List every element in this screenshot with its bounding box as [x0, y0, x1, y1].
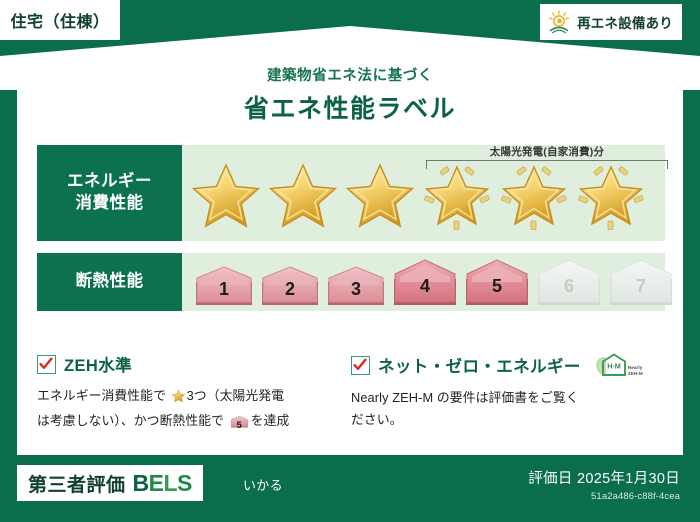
note-zeh-text-4: を達成 [251, 413, 290, 428]
bels-wordmark: BELS [133, 470, 192, 497]
note-zeh-title: ZEH水準 [64, 352, 132, 376]
insulation-badge-2-number: 2 [258, 263, 322, 307]
note-zeh-header: ZEH水準 [37, 352, 337, 376]
note-nze-body: Nearly ZEH-M の要件は評価書をご覧く ださい。 [351, 387, 651, 431]
zeh-m-caption-line1: Nearly [628, 365, 643, 370]
row-label-insulation-line1: 断熱性能 [76, 271, 144, 293]
note-zeh-body: エネルギー消費性能で 3つ（太陽光発電 は考慮しない）、かつ断熱性能で 5 を達… [37, 385, 337, 436]
rating-rows: エネルギー 消費性能 [37, 145, 665, 323]
note-zeh-text-3: は考慮しない）、かつ断熱性能で [37, 413, 224, 428]
note-zeh-text-2: 3つ（太陽光発電 [187, 388, 285, 403]
checkbox-net-zero-energy [351, 356, 370, 375]
star-5-solar [496, 155, 572, 231]
bels-letter-l: L [163, 470, 177, 496]
bels-letter-s: S [177, 470, 192, 496]
title-main: 省エネ性能ラベル [0, 89, 700, 125]
check-icon [39, 357, 53, 371]
row-body-energy: 太陽光発電(自家消費)分 [182, 145, 665, 241]
row-label-insulation: 断熱性能 [37, 253, 182, 311]
solar-sun-icon [546, 9, 572, 35]
bels-letter-e: E [149, 470, 164, 496]
footer: 第三者評価 BELS いかる 評価日 2025年1月30日 51a2a486-c… [0, 455, 700, 522]
check-icon [353, 358, 367, 372]
evaluation-date: 評価日 2025年1月30日 [528, 467, 680, 488]
building-type-tag: 住宅（住棟） [0, 0, 120, 40]
row-label-energy: エネルギー 消費性能 [37, 145, 182, 241]
energy-performance-label: 住宅（住棟） 再エネ設備あり 建築物省エネ法に基づく 省エネ性能ラベル [0, 0, 700, 522]
note-zeh-standard: ZEH水準 エネルギー消費性能で 3つ（太陽光発電 は考慮しない）、かつ断熱性能… [37, 352, 351, 436]
note-nze-text-line2: ださい。 [351, 412, 403, 427]
star-4-solar [419, 155, 495, 231]
bels-certification-box: 第三者評価 BELS [17, 465, 203, 501]
note-nze-title: ネット・ゼロ・エネルギー [378, 353, 581, 377]
bels-letter-b: B [133, 470, 149, 496]
row-label-energy-line1: エネルギー [67, 171, 152, 193]
insulation-badge-6: 6 [534, 257, 604, 307]
note-nze-header: ネット・ゼロ・エネルギー H·M Nearly ZEH-M [351, 352, 651, 378]
insulation-badge-5: 5 [462, 257, 532, 307]
insulation-badge-3: 3 [324, 263, 388, 307]
insulation-badge-6-number: 6 [534, 257, 604, 307]
zeh-m-caption-line2: ZEH-M [628, 371, 643, 376]
insulation-badge-7: 7 [606, 257, 676, 307]
evaluation-info: 評価日 2025年1月30日 51a2a486-c88f-4cea [528, 467, 680, 502]
checkbox-zeh-standard [37, 355, 56, 374]
renewable-energy-badge: 再エネ設備あり [540, 4, 682, 40]
star-1 [188, 155, 264, 231]
insulation-badge-7-number: 7 [606, 257, 676, 307]
star-2 [265, 155, 341, 231]
title-subtitle: 建築物省エネ法に基づく [0, 64, 700, 85]
evaluation-date-label: 評価日 [528, 471, 572, 487]
row-label-energy-line2: 消費性能 [76, 193, 144, 215]
evaluation-id: 51a2a486-c88f-4cea [528, 491, 680, 502]
title-block: 建築物省エネ法に基づく 省エネ性能ラベル [0, 64, 700, 125]
renewable-badge-label: 再エネ設備あり [577, 12, 673, 32]
svg-text:H·M: H·M [607, 362, 621, 371]
star-6-solar [573, 155, 649, 231]
insulation-badge-4: 4 [390, 257, 460, 307]
notes-section: ZEH水準 エネルギー消費性能で 3つ（太陽光発電 は考慮しない）、かつ断熱性能… [37, 352, 665, 436]
zeh-m-logo-caption: Nearly ZEH-M [628, 365, 643, 378]
row-energy-consumption: エネルギー 消費性能 [37, 145, 665, 241]
evaluation-date-value: 2025年1月30日 [577, 471, 680, 487]
note-nze-text-line1: Nearly ZEH-M の要件は評価書をご覧く [351, 390, 579, 405]
inline-star-icon [171, 388, 186, 410]
star-3 [342, 155, 418, 231]
star-rating [188, 155, 649, 231]
inline-house-number: 5 [230, 414, 249, 436]
insulation-badge-4-number: 4 [390, 257, 460, 307]
note-zeh-text-1: エネルギー消費性能で [37, 388, 166, 403]
inline-house-badge: 5 [230, 414, 249, 436]
row-body-insulation: 1 2 [182, 253, 676, 311]
insulation-badge-1: 1 [192, 263, 256, 307]
insulation-badge-3-number: 3 [324, 263, 388, 307]
note-net-zero-energy: ネット・ゼロ・エネルギー H·M Nearly ZEH-M Nearly ZEH… [351, 352, 665, 436]
third-party-eval-label: 第三者評価 [28, 470, 126, 497]
insulation-badge-1-number: 1 [192, 263, 256, 307]
building-type-label: 住宅（住棟） [10, 8, 109, 32]
insulation-badge-5-number: 5 [462, 257, 532, 307]
row-insulation-performance: 断熱性能 [37, 253, 665, 311]
zeh-m-logo: H·M Nearly ZEH-M [593, 352, 643, 378]
zeh-m-house-icon: H·M [593, 352, 627, 378]
insulation-scale: 1 2 [192, 257, 676, 307]
owner-name: いかる [243, 475, 283, 494]
insulation-badge-2: 2 [258, 263, 322, 307]
